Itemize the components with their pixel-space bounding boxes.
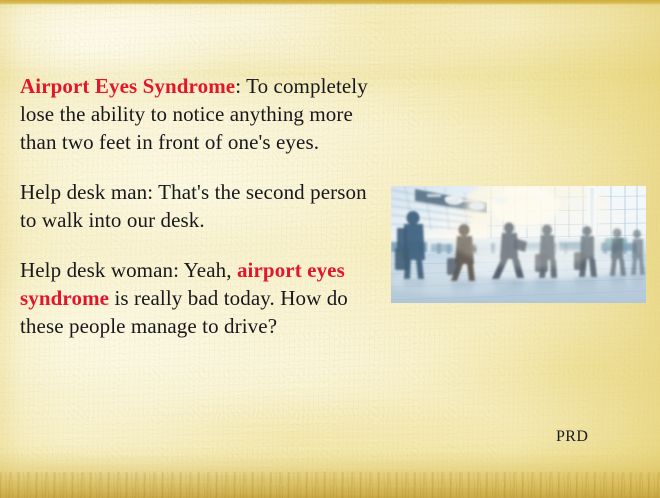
author-signature: PRD (556, 428, 588, 446)
slide-text-block: Airport Eyes Syndrome: To completely los… (20, 72, 370, 340)
paragraph-help-desk-woman: Help desk woman: Yeah, airport eyes synd… (20, 256, 370, 340)
background-bottom-speckle (0, 472, 660, 498)
airport-terminal-photo (391, 186, 646, 303)
airport-terminal-illustration (391, 186, 646, 303)
term-airport-eyes-syndrome: Airport Eyes Syndrome (20, 74, 235, 98)
background-top-band (0, 0, 660, 5)
help-desk-man-text: Help desk man: That's the second person … (20, 180, 367, 232)
slide-canvas: Airport Eyes Syndrome: To completely los… (0, 0, 660, 498)
paragraph-help-desk-man: Help desk man: That's the second person … (20, 178, 370, 234)
paragraph-definition: Airport Eyes Syndrome: To completely los… (20, 72, 370, 156)
help-desk-woman-lead: Help desk woman: Yeah, (20, 258, 237, 282)
